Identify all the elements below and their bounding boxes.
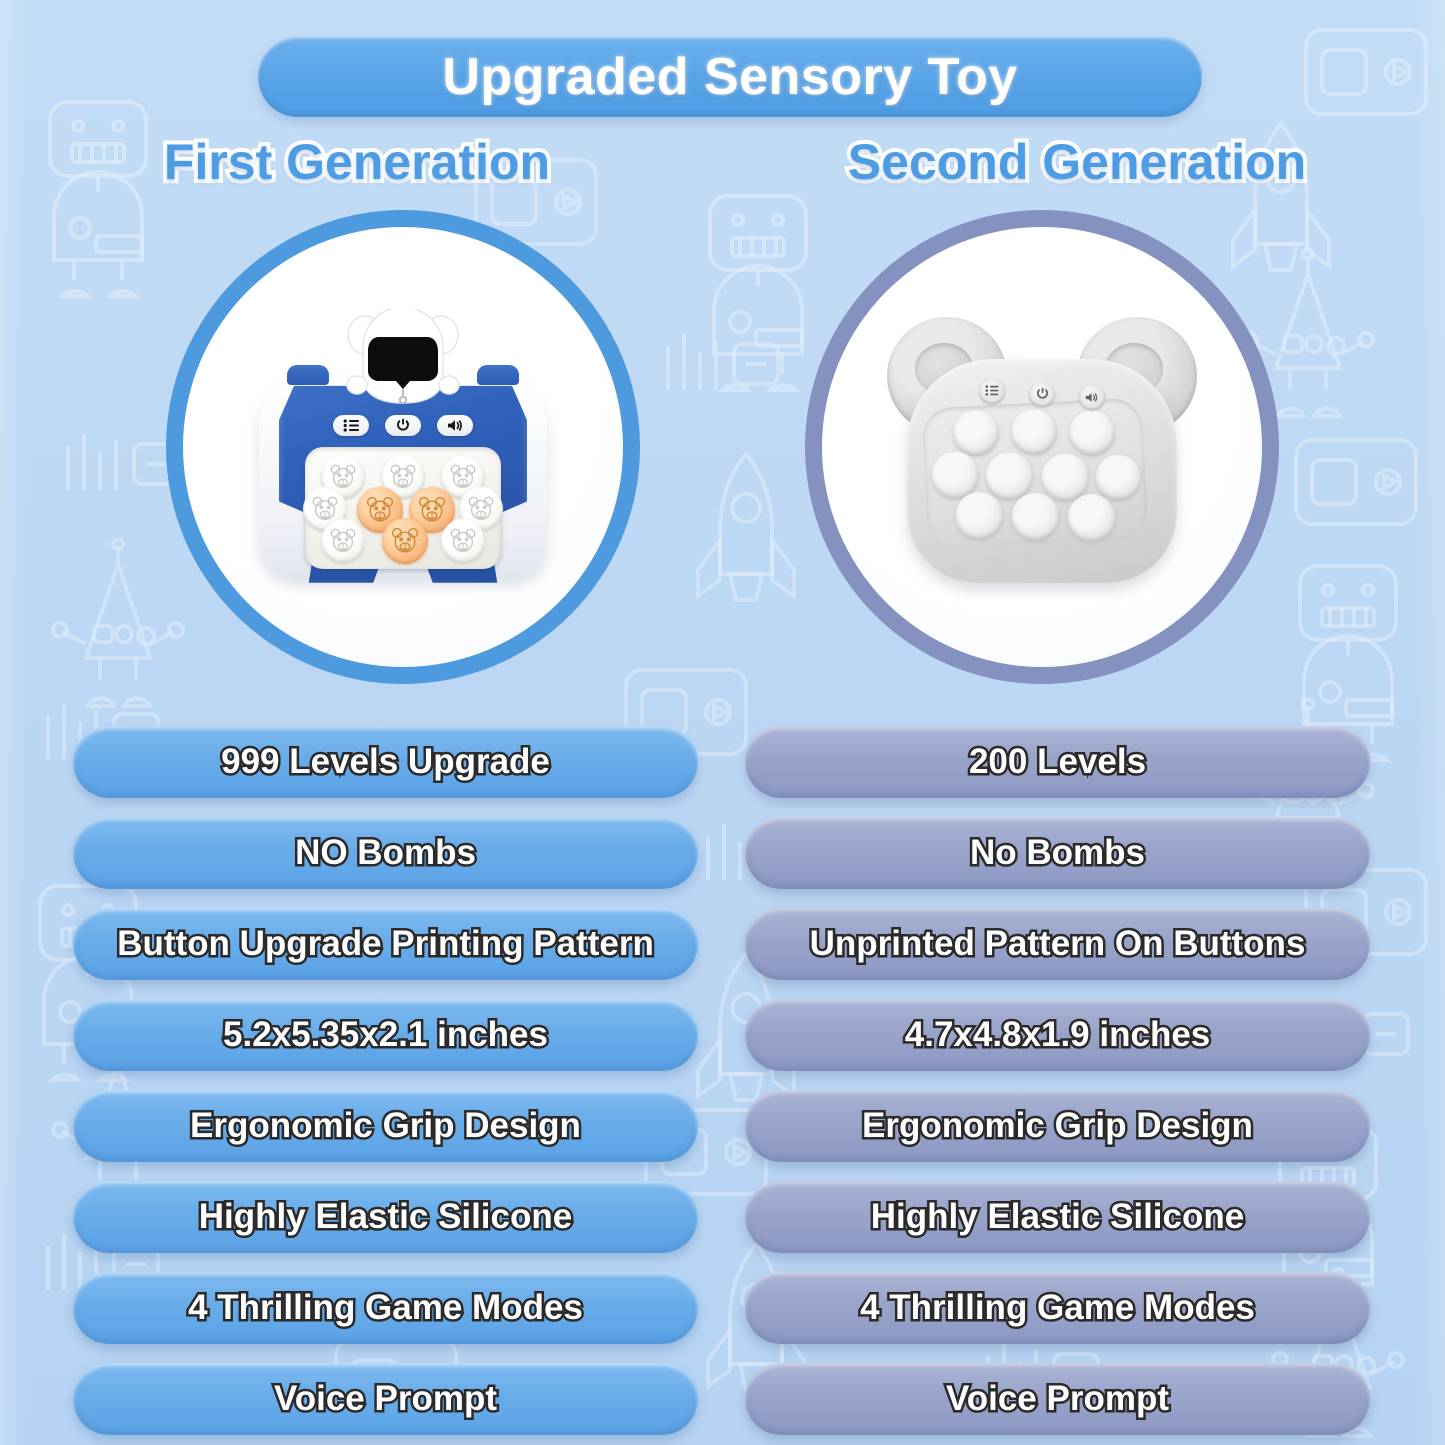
- column-heading-first-generation: First Generation: [10, 133, 704, 191]
- bear-astronaut-topper-icon: [345, 309, 461, 407]
- bear-face-icon: [321, 519, 365, 563]
- volume-icon: [1085, 392, 1099, 403]
- power-button-first-generation[interactable]: [385, 415, 421, 436]
- feature-label: 4.7x4.8x1.9 inches: [905, 1015, 1211, 1055]
- volume-button-first-generation[interactable]: [437, 415, 473, 436]
- bubble-button[interactable]: [1066, 493, 1116, 543]
- power-icon: [396, 418, 410, 432]
- feature-label: 200 Levels: [969, 742, 1146, 782]
- volume-icon: [447, 419, 464, 432]
- menu-icon: [343, 419, 360, 432]
- feature-label: 5.2x5.35x2.1 inches: [223, 1015, 548, 1055]
- feature-pill-second-generation: No Bombs: [745, 817, 1370, 889]
- feature-pill-second-generation: 4.7x4.8x1.9 inches: [745, 999, 1370, 1071]
- feature-row: NO Bombs No Bombs: [0, 817, 1445, 908]
- feature-label: Ergonomic Grip Design: [190, 1106, 581, 1146]
- feature-pill-second-generation: Unprinted Pattern On Buttons: [745, 908, 1370, 980]
- feature-label: Highly Elastic Silicone: [871, 1197, 1244, 1237]
- feature-label: Highly Elastic Silicone: [199, 1197, 572, 1237]
- bear-face-icon: [382, 518, 428, 564]
- feature-pill-first-generation: NO Bombs: [73, 817, 698, 889]
- page-title-banner: Upgraded Sensory Toy: [258, 37, 1202, 117]
- feature-pill-first-generation: Ergonomic Grip Design: [73, 1090, 698, 1162]
- feature-pill-first-generation: Voice Prompt: [73, 1363, 698, 1435]
- feature-label: 999 Levels Upgrade: [221, 742, 550, 782]
- feature-label: 4 Thrilling Game Modes: [860, 1288, 1255, 1328]
- menu-icon: [985, 385, 999, 396]
- product-image-first-generation: [166, 210, 640, 684]
- feature-label: Voice Prompt: [946, 1379, 1169, 1419]
- feature-pill-second-generation: Highly Elastic Silicone: [745, 1181, 1370, 1253]
- console-control-row-first-generation: [333, 415, 473, 436]
- power-button-second-generation[interactable]: [1029, 381, 1055, 407]
- feature-pill-first-generation: 4 Thrilling Game Modes: [73, 1272, 698, 1344]
- feature-row: 4 Thrilling Game Modes 4 Thrilling Game …: [0, 1272, 1445, 1363]
- feature-pill-first-generation: 999 Levels Upgrade: [73, 726, 698, 798]
- bubble-button[interactable]: [1010, 408, 1058, 456]
- bubble-button[interactable]: [1068, 409, 1116, 457]
- feature-label: Button Upgrade Printing Pattern: [117, 924, 654, 964]
- feature-label: Voice Prompt: [274, 1379, 497, 1419]
- feature-row: Voice Prompt Voice Prompt: [0, 1363, 1445, 1445]
- column-heading-second-generation: Second Generation: [730, 133, 1424, 191]
- menu-button-second-generation[interactable]: [979, 378, 1005, 404]
- bubble-button[interactable]: [954, 491, 1004, 541]
- first-generation-console: [253, 311, 553, 601]
- power-icon: [1036, 387, 1049, 400]
- feature-pill-second-generation: Voice Prompt: [745, 1363, 1370, 1435]
- shoulder-nub-right: [477, 365, 519, 385]
- shoulder-nub-left: [287, 365, 329, 385]
- feature-row: Ergonomic Grip Design Ergonomic Grip Des…: [0, 1090, 1445, 1181]
- feature-pill-first-generation: 5.2x5.35x2.1 inches: [73, 999, 698, 1071]
- feature-pill-second-generation: 4 Thrilling Game Modes: [745, 1272, 1370, 1344]
- bubble-button[interactable]: [1010, 492, 1060, 542]
- second-generation-console: [883, 315, 1201, 587]
- bubble-button-lit[interactable]: [382, 518, 428, 564]
- bubble-button[interactable]: [1094, 454, 1142, 502]
- feature-label: NO Bombs: [295, 833, 476, 873]
- feature-comparison-list: 999 Levels Upgrade 200 Levels NO Bombs N…: [0, 726, 1445, 1445]
- silicone-bubble-panel-first-generation: [305, 447, 501, 569]
- feature-row: Button Upgrade Printing Pattern Unprinte…: [0, 908, 1445, 999]
- console-control-row-second-generation: [979, 371, 1105, 410]
- silicone-bubble-panel-second-generation: [921, 398, 1148, 549]
- feature-pill-first-generation: Highly Elastic Silicone: [73, 1181, 698, 1253]
- infographic-canvas: Upgraded Sensory Toy First Generation Se…: [0, 0, 1445, 1445]
- feature-pill-first-generation: Button Upgrade Printing Pattern: [73, 908, 698, 980]
- product-image-second-generation: [805, 210, 1279, 684]
- bubble-button[interactable]: [441, 519, 485, 563]
- feature-row: 999 Levels Upgrade 200 Levels: [0, 726, 1445, 817]
- feature-label: Ergonomic Grip Design: [862, 1106, 1253, 1146]
- feature-label: No Bombs: [970, 833, 1145, 873]
- feature-label: 4 Thrilling Game Modes: [188, 1288, 583, 1328]
- bubble-button[interactable]: [321, 519, 365, 563]
- page-title: Upgraded Sensory Toy: [442, 47, 1017, 107]
- feature-row: Highly Elastic Silicone Highly Elastic S…: [0, 1181, 1445, 1272]
- image-disc-second-generation: [822, 227, 1262, 667]
- volume-button-second-generation[interactable]: [1079, 384, 1105, 410]
- feature-pill-second-generation: 200 Levels: [745, 726, 1370, 798]
- bubble-button[interactable]: [952, 409, 1000, 457]
- feature-label: Unprinted Pattern On Buttons: [810, 924, 1306, 964]
- feature-pill-second-generation: Ergonomic Grip Design: [745, 1090, 1370, 1162]
- image-disc-first-generation: [183, 227, 623, 667]
- feature-row: 5.2x5.35x2.1 inches 4.7x4.8x1.9 inches: [0, 999, 1445, 1090]
- bear-face-icon: [441, 519, 485, 563]
- menu-button-first-generation[interactable]: [333, 415, 369, 436]
